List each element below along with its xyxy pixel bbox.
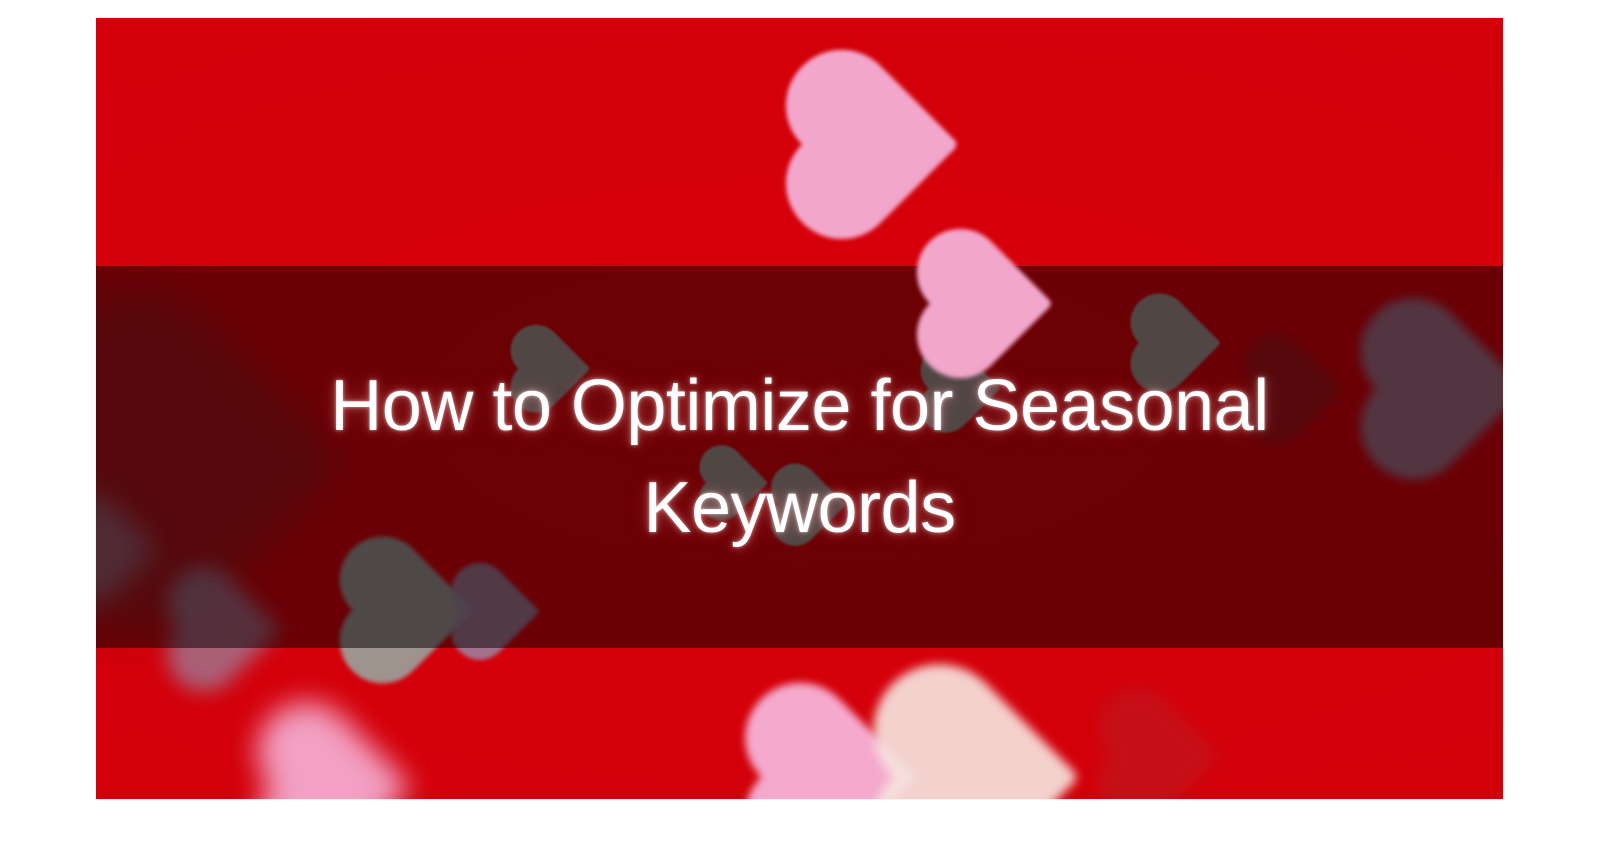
hero-banner-image: How to Optimize for Seasonal Keywords bbox=[96, 18, 1503, 799]
page-root: How to Optimize for Seasonal Keywords bbox=[0, 0, 1600, 842]
heart-pink-top-center-icon bbox=[796, 36, 964, 204]
heart-shape bbox=[1110, 699, 1222, 799]
heart-cream-bottom-center-icon bbox=[886, 648, 1086, 799]
heart-shape bbox=[802, 66, 959, 223]
heart-pink-bottom-left-icon bbox=[266, 690, 416, 799]
banner-headline: How to Optimize for Seasonal Keywords bbox=[96, 266, 1503, 648]
heart-dark-red-bottom-right-icon bbox=[1106, 678, 1226, 798]
headline-line-2: Keywords bbox=[643, 457, 955, 559]
heart-shape bbox=[893, 684, 1080, 799]
headline-line-1: How to Optimize for Seasonal bbox=[330, 355, 1268, 457]
heart-shape bbox=[271, 717, 411, 799]
